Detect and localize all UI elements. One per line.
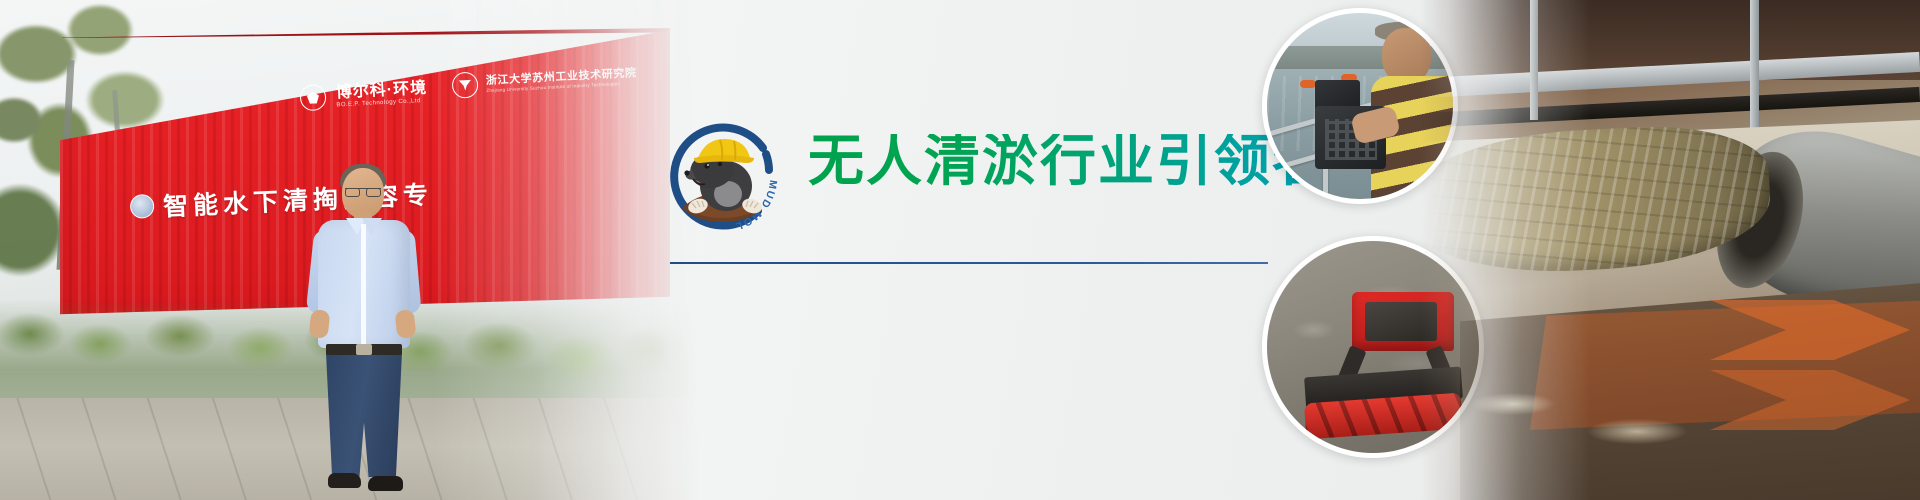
left-photo: 博尔科·环境 BO.E.P. Technology Co.,Ltd 浙江大学苏州… [0, 0, 700, 500]
headline-divider [670, 262, 1268, 264]
brand-mark-glyph [307, 91, 320, 104]
mole-mascot-icon [676, 130, 768, 226]
person-glasses-bridge [345, 188, 381, 197]
headline-text: 无人清淤行业引领者 [808, 134, 1330, 190]
person-belt-buckle [356, 344, 372, 355]
partner-mark-icon [451, 71, 478, 98]
partner-mark-glyph [458, 79, 472, 91]
brand-mark-icon [299, 84, 326, 111]
center-content: MUD MOLE [660, 110, 1280, 290]
right-photo-sludge-pipe [1420, 0, 1920, 500]
channel-grit-deposit [1420, 360, 1730, 470]
person-shoe-left [328, 473, 361, 488]
hero-banner: 博尔科·环境 BO.E.P. Technology Co.,Ltd 浙江大学苏州… [0, 0, 1920, 500]
mud-mole-logo: MUD MOLE [662, 118, 780, 236]
person-hand-right [395, 309, 417, 339]
person-jeans [326, 353, 402, 477]
person-shirt-placket [361, 224, 366, 344]
pipe-rail-post-2 [1750, 0, 1759, 140]
person-shoe-right [368, 476, 403, 491]
pipe-rail-post-1 [1530, 0, 1538, 120]
person-figure [300, 168, 430, 500]
slogan-badge-icon [130, 194, 155, 219]
orange-float-1 [1300, 80, 1316, 88]
